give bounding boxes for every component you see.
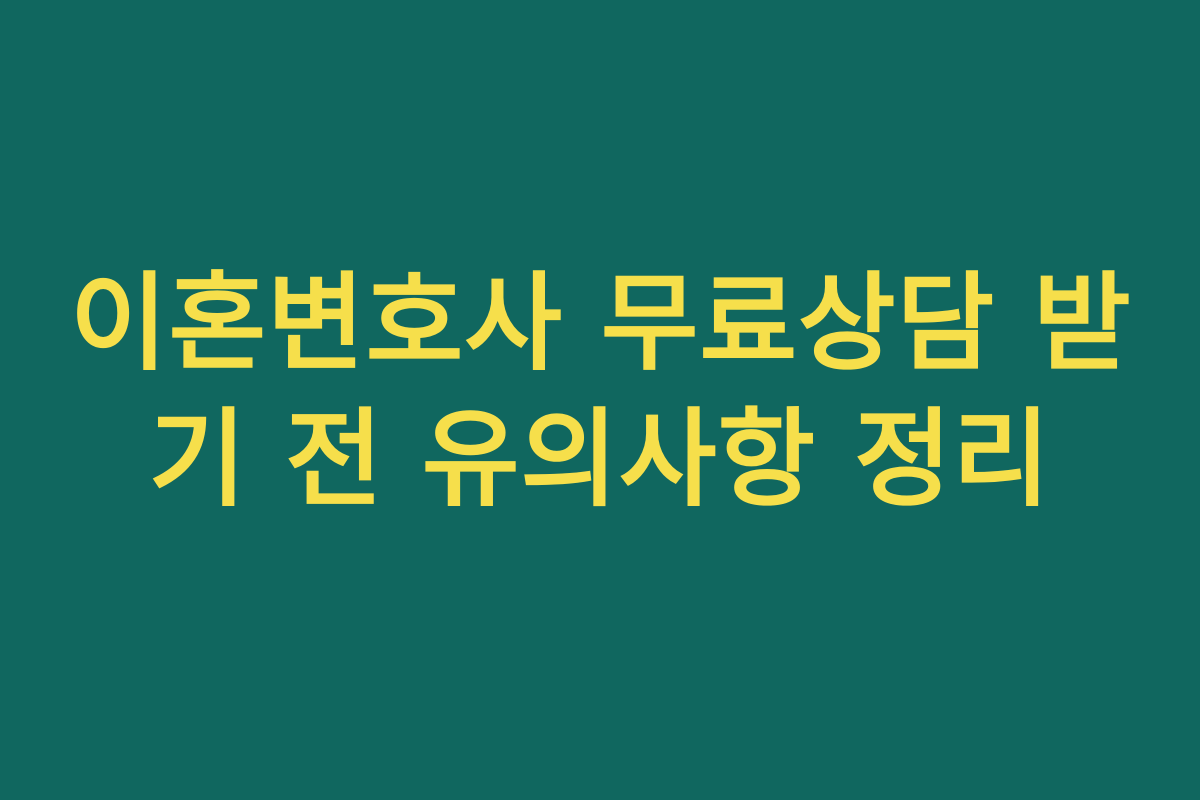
headline-line-1: 이혼변호사 무료상담 받	[70, 256, 1130, 392]
thumbnail-canvas: 이혼변호사 무료상담 받 기 전 유의사항 정리	[0, 0, 1200, 800]
headline-block: 이혼변호사 무료상담 받 기 전 유의사항 정리	[70, 256, 1130, 527]
headline-line-2: 기 전 유의사항 정리	[70, 392, 1130, 528]
